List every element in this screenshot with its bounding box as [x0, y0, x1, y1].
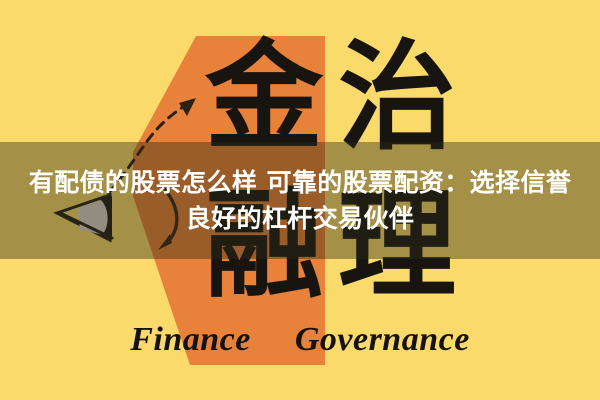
latin-word-governance: Governance: [295, 321, 470, 359]
poster-image: 金 治 融 理 Finance Governance 有配债的股票怎么样 可靠的…: [0, 0, 600, 400]
title-overlay-band: 有配债的股票怎么样 可靠的股票配资：选择信誉 良好的杠杆交易伙伴: [0, 142, 600, 259]
latin-word-finance: Finance: [130, 321, 251, 359]
title-line-1: 有配债的股票怎么样 可靠的股票配资：选择信誉: [29, 165, 572, 201]
title-line-2: 良好的杠杆交易伙伴: [186, 201, 415, 237]
latin-caption-row: Finance Governance: [0, 316, 600, 364]
